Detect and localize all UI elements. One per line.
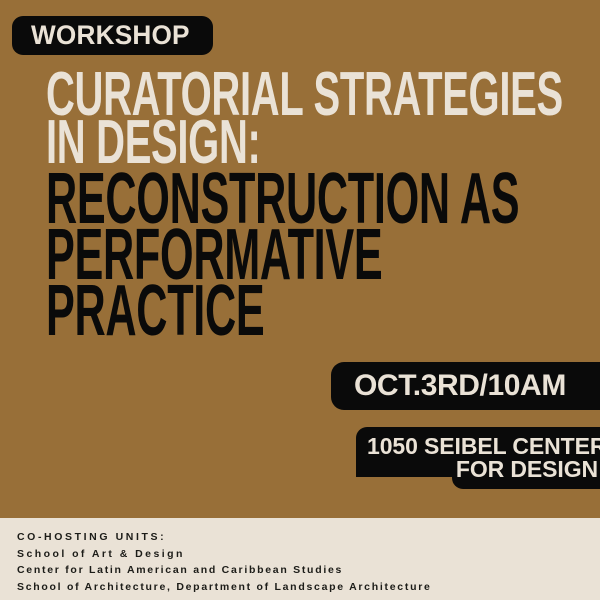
workshop-poster: WORKSHOP CURATORIAL STRATEGIES IN DESIGN… [0, 0, 600, 600]
poster-headline: CURATORIAL STRATEGIES IN DESIGN: RECONST… [46, 68, 594, 343]
headline-line-5: PRACTICE [46, 280, 375, 343]
footer-unit-2: Center for Latin American and Caribbean … [17, 562, 600, 579]
footer-heading: CO-HOSTING UNITS: [17, 529, 600, 546]
location-badge: 1050 SEIBEL CENTER FOR DESIGN [356, 427, 600, 489]
date-badge-label: OCT.3RD/10AM [354, 371, 566, 401]
location-badge-line-2: FOR DESIGN [456, 458, 598, 481]
date-badge: OCT.3RD/10AM [331, 362, 600, 410]
workshop-tag: WORKSHOP [12, 16, 213, 55]
footer-unit-1: School of Art & Design [17, 546, 600, 563]
footer-band: CO-HOSTING UNITS: School of Art & Design… [0, 518, 600, 600]
footer-unit-3: School of Architecture, Department of La… [17, 579, 600, 596]
location-badge-line-1: 1050 SEIBEL CENTER [367, 435, 600, 458]
workshop-tag-label: WORKSHOP [31, 22, 190, 49]
location-badge-row-2: FOR DESIGN [452, 450, 600, 489]
